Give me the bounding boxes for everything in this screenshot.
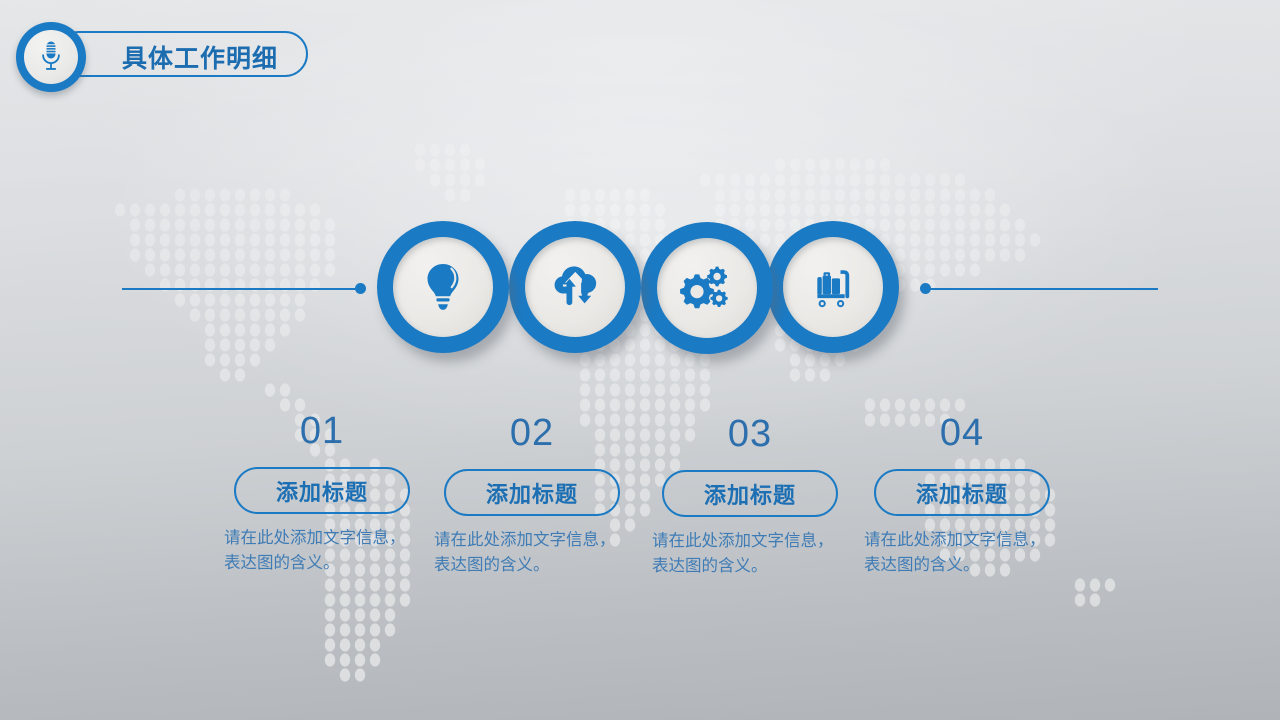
luggage-cart-icon [783,237,883,337]
icon-circle-2[interactable] [509,221,641,353]
icon-circle-3[interactable] [641,222,773,354]
lightbulb-icon [393,237,493,337]
column-title-pill[interactable]: 添加标题 [234,467,410,514]
cloud-sync-icon [525,237,625,337]
column-number: 01 [207,412,437,450]
column-2: 02 添加标题 请在此处添加文字信息，表达图的含义。 [417,414,647,578]
column-number: 04 [847,414,1077,452]
gears-icon [657,238,757,338]
column-number: 02 [417,414,647,452]
column-3: 03 添加标题 请在此处添加文字信息，表达图的含义。 [635,415,865,579]
icon-circle-1[interactable] [377,221,509,353]
column-title-pill[interactable]: 添加标题 [874,469,1050,516]
column-description: 请在此处添加文字信息，表达图的含义。 [652,529,848,579]
column-number: 03 [635,415,865,453]
column-title-pill[interactable]: 添加标题 [662,470,838,517]
column-title-label: 添加标题 [916,477,1008,509]
slide-canvas: 具体工作明细 [0,0,1280,720]
column-title-label: 添加标题 [704,478,796,510]
icon-circle-row [0,0,1280,720]
column-title-label: 添加标题 [276,475,368,507]
icon-circle-4[interactable] [767,221,899,353]
column-1: 01 添加标题 请在此处添加文字信息，表达图的含义。 [207,412,437,576]
column-description: 请在此处添加文字信息，表达图的含义。 [224,526,420,576]
column-description: 请在此处添加文字信息，表达图的含义。 [434,528,630,578]
column-title-label: 添加标题 [486,477,578,509]
column-4: 04 添加标题 请在此处添加文字信息，表达图的含义。 [847,414,1077,578]
column-title-pill[interactable]: 添加标题 [444,469,620,516]
column-description: 请在此处添加文字信息，表达图的含义。 [864,528,1060,578]
